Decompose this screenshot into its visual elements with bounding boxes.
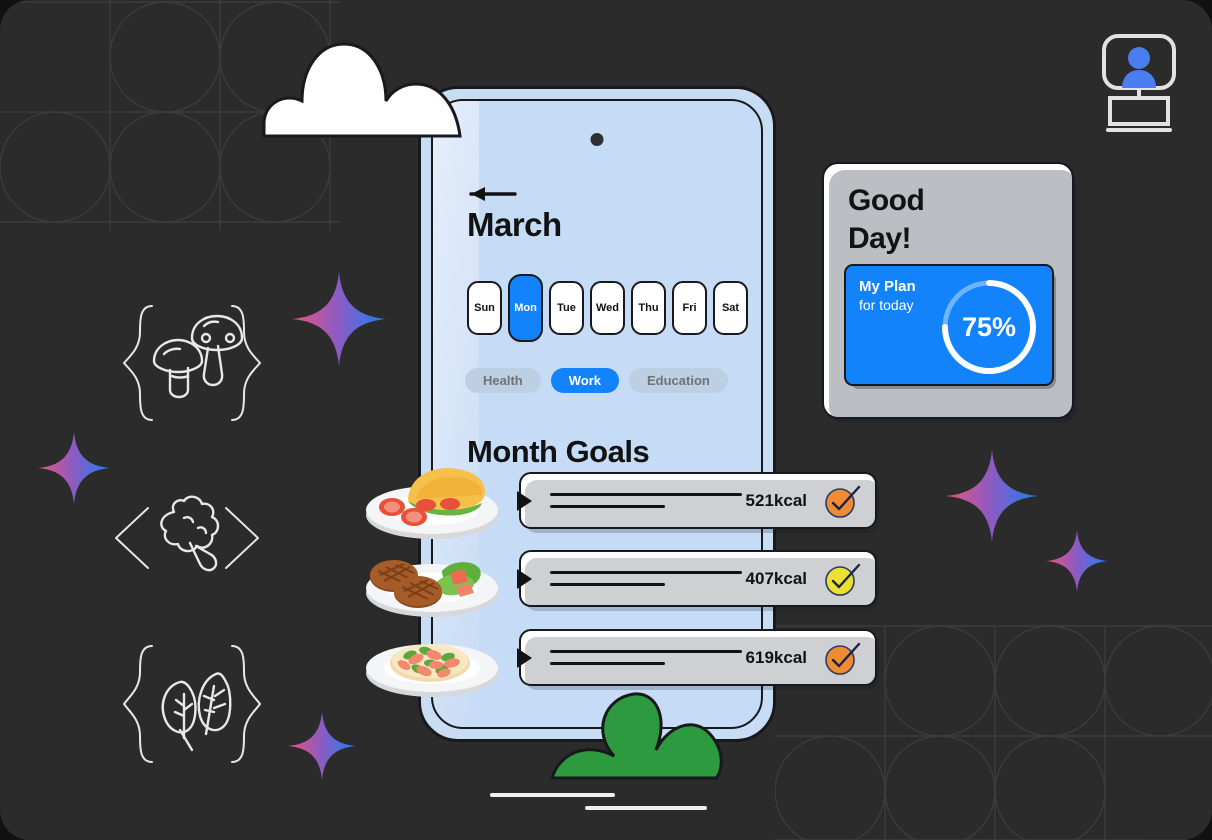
play-triangle-icon <box>517 491 532 511</box>
shrimp-pasta-plate <box>364 615 500 706</box>
mushroom-shapes <box>154 316 242 397</box>
placeholder-line-long <box>550 650 742 653</box>
spinach-glyph <box>118 638 266 775</box>
day-tue[interactable]: Tue <box>549 281 584 335</box>
calorie-value: 521kcal <box>746 491 807 511</box>
poster-canvas: March Sun Mon Tue Wed Thu Fri Sat Health… <box>0 0 1212 840</box>
day-mon[interactable]: Mon <box>508 274 543 342</box>
chip-health[interactable]: Health <box>465 368 541 393</box>
good-day-card: Good Day! My Plan for today 75% <box>822 162 1074 419</box>
goal-row[interactable]: 619kcal <box>519 629 877 686</box>
placeholder-lines <box>550 571 742 586</box>
calorie-value: 619kcal <box>746 648 807 668</box>
good-day-title: Good Day! <box>848 182 924 257</box>
play-triangle-icon <box>517 648 532 668</box>
cloud-shape <box>262 28 488 145</box>
day-thu[interactable]: Thu <box>631 281 666 335</box>
sandwich-tomato-plate <box>364 455 500 546</box>
placeholder-line-short <box>550 505 665 508</box>
check-badge-icon[interactable] <box>825 642 861 681</box>
progress-percent: 75% <box>936 274 1042 380</box>
calorie-value: 407kcal <box>746 569 807 589</box>
broccoli-glyph <box>112 486 262 596</box>
mushrooms-glyph <box>118 298 266 433</box>
day-sun[interactable]: Sun <box>467 281 502 335</box>
placeholder-lines <box>550 650 742 665</box>
sparkle-icon-5 <box>1046 530 1108 597</box>
plant-leaves-shape <box>548 690 738 787</box>
decor-line-1 <box>490 793 615 797</box>
play-triangle-icon <box>517 569 532 589</box>
user-screen-icon[interactable] <box>1100 32 1178 137</box>
leaf-shapes <box>163 673 230 750</box>
placeholder-line-short <box>550 662 665 665</box>
plan-subtitle: for today <box>859 297 916 315</box>
check-badge-icon[interactable] <box>825 563 861 602</box>
sparkle-icon-3 <box>288 712 356 785</box>
day-wed[interactable]: Wed <box>590 281 625 335</box>
steak-salad-plate <box>364 535 500 626</box>
category-chips[interactable]: Health Work Education <box>465 368 728 393</box>
page-title: March <box>467 206 562 244</box>
chip-education[interactable]: Education <box>629 368 728 393</box>
back-arrow-icon[interactable] <box>469 185 517 208</box>
sparkle-icon-2 <box>38 432 110 509</box>
placeholder-line-long <box>550 571 742 574</box>
check-badge-icon[interactable] <box>825 485 861 524</box>
chip-work[interactable]: Work <box>551 368 619 393</box>
plan-label: My Plan for today <box>859 278 916 314</box>
sparkle-icon-4 <box>946 450 1038 547</box>
plan-title: My Plan <box>859 278 916 295</box>
goal-row[interactable]: 521kcal <box>519 472 877 529</box>
broccoli-shape <box>161 497 218 570</box>
my-plan-card[interactable]: My Plan for today 75% <box>844 264 1054 386</box>
sparkle-icon-1 <box>292 272 386 371</box>
goal-row[interactable]: 407kcal <box>519 550 877 607</box>
placeholder-line-short <box>550 583 665 586</box>
day-selector[interactable]: Sun Mon Tue Wed Thu Fri Sat <box>467 274 748 342</box>
progress-ring: 75% <box>936 274 1042 385</box>
day-fri[interactable]: Fri <box>672 281 707 335</box>
day-sat[interactable]: Sat <box>713 281 748 335</box>
decor-line-2 <box>585 806 707 810</box>
placeholder-lines <box>550 493 742 508</box>
placeholder-line-long <box>550 493 742 496</box>
